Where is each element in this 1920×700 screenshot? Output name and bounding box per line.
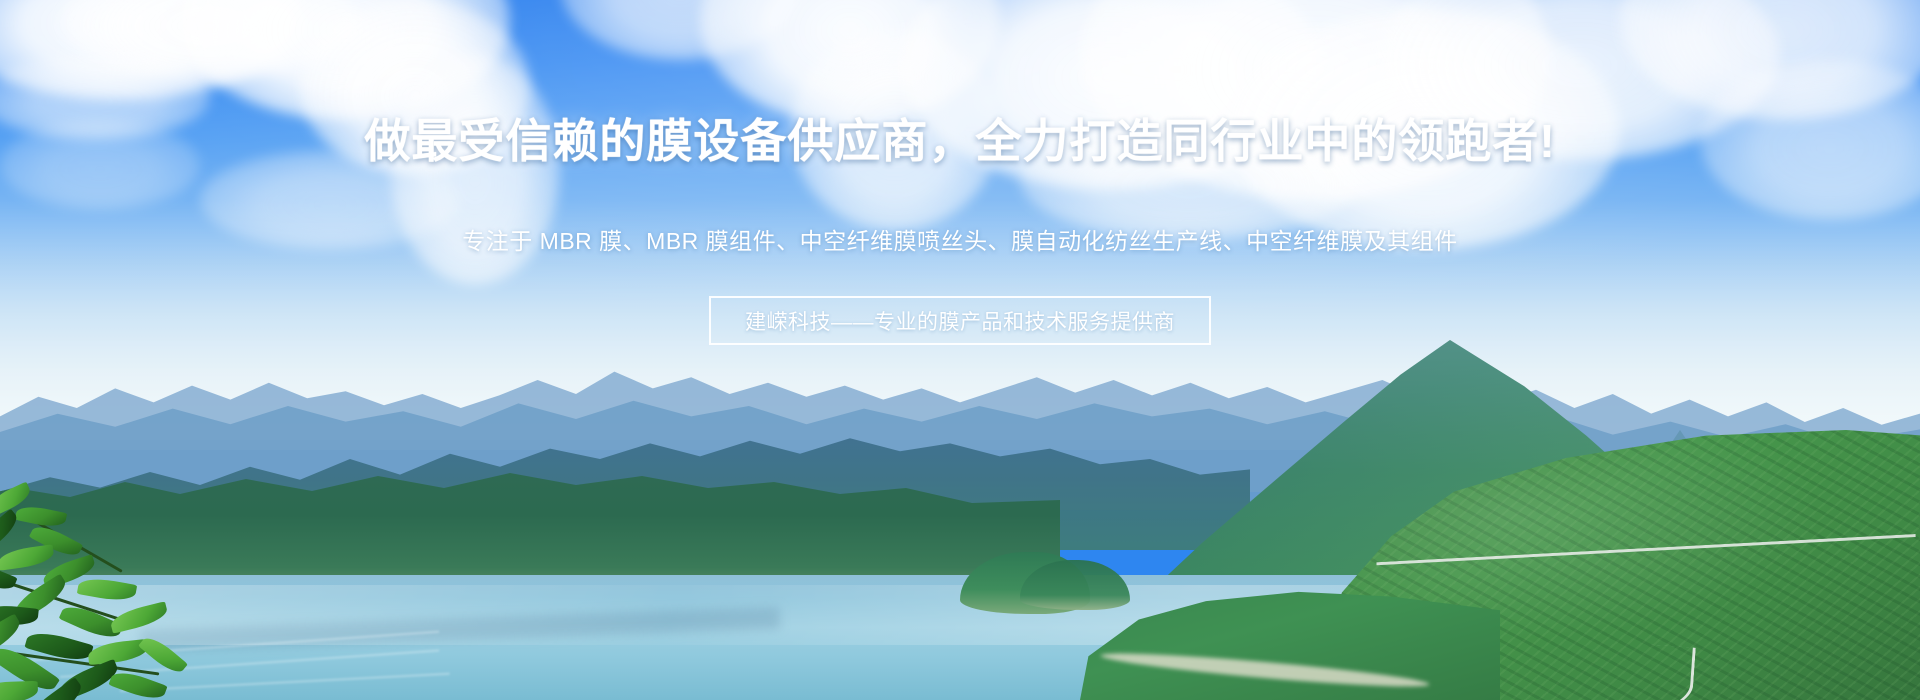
tagline-badge: 建嵘科技——专业的膜产品和技术服务提供商	[709, 296, 1211, 345]
banner-subtitle: 专注于 MBR 膜、MBR 膜组件、中空纤维膜喷丝头、膜自动化纺丝生产线、中空纤…	[0, 228, 1920, 256]
tagline-container: 建嵘科技——专业的膜产品和技术服务提供商	[0, 296, 1920, 345]
hero-banner: 做最受信赖的膜设备供应商，全力打造同行业中的领跑者! 专注于 MBR 膜、MBR…	[0, 0, 1920, 700]
page-title: 做最受信赖的膜设备供应商，全力打造同行业中的领跑者!	[0, 118, 1920, 164]
banner-text-overlay: 做最受信赖的膜设备供应商，全力打造同行业中的领跑者! 专注于 MBR 膜、MBR…	[0, 0, 1920, 700]
